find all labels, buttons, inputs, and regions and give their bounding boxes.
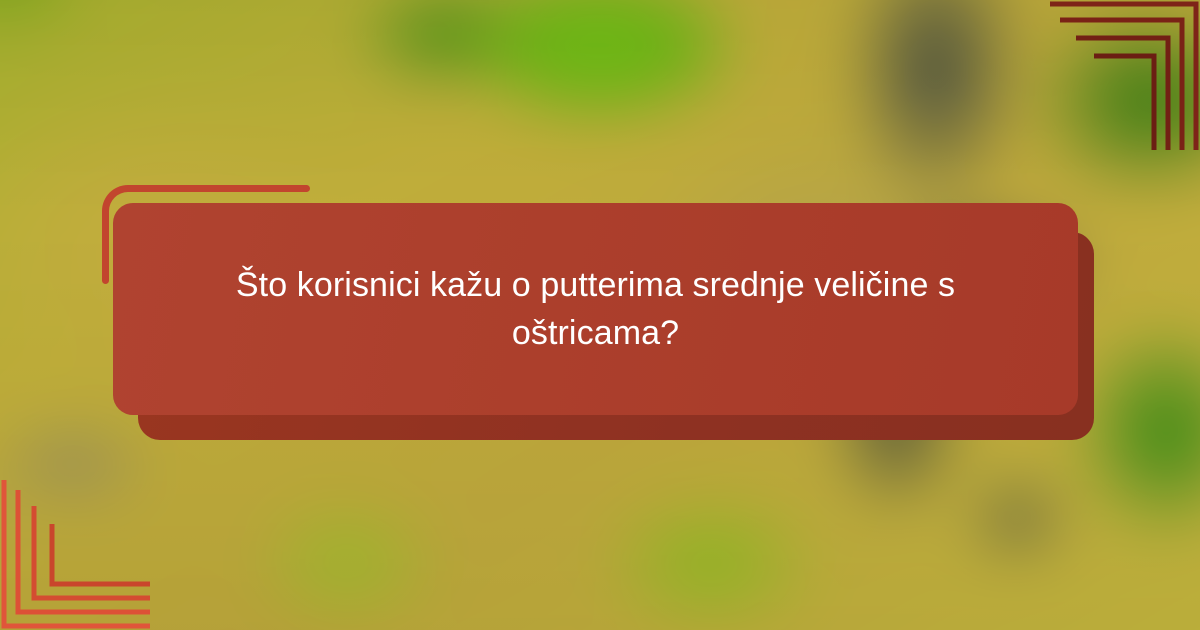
page-title: Što korisnici kažu o putterima srednje v… bbox=[113, 261, 1078, 358]
og-card-canvas: Što korisnici kažu o putterima srednje v… bbox=[0, 0, 1200, 630]
headline-card: Što korisnici kažu o putterima srednje v… bbox=[113, 203, 1078, 415]
